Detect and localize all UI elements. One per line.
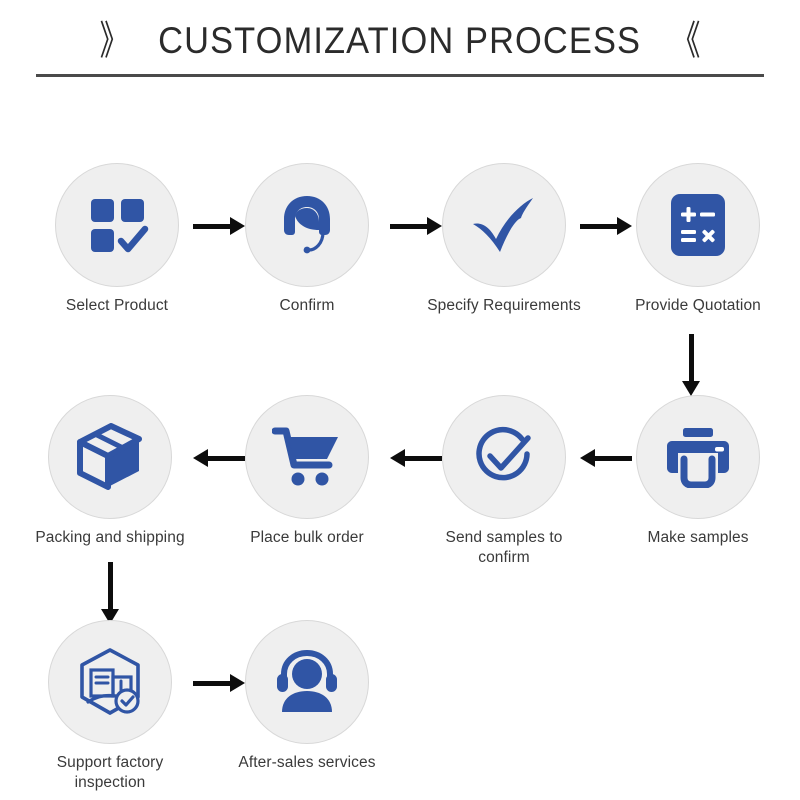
support-agent-icon <box>274 192 340 258</box>
step-icon-circle <box>245 395 369 519</box>
check-circle-icon <box>470 423 538 491</box>
step-label: Provide Quotation <box>613 296 783 316</box>
step-icon-circle <box>55 163 179 287</box>
connector-arrow-down <box>680 334 702 396</box>
connector-arrow-left <box>580 447 632 469</box>
step-icon-circle <box>48 620 172 744</box>
step-label: Confirm <box>222 296 392 316</box>
customization-process-infographic: 》 CUSTOMIZATION PROCESS 《 Select Product <box>0 0 800 800</box>
step-icon-circle <box>636 395 760 519</box>
page-title-text: CUSTOMIZATION PROCESS <box>159 20 642 62</box>
grid-check-icon <box>85 193 149 257</box>
shopping-cart-icon <box>272 425 342 489</box>
step-after-sales-services[interactable]: After-sales services <box>222 620 392 773</box>
step-make-samples[interactable]: Make samples <box>613 395 783 548</box>
step-label: Specify Requirements <box>419 296 589 316</box>
step-icon-circle <box>245 163 369 287</box>
page-title: 》 CUSTOMIZATION PROCESS 《 <box>0 12 800 70</box>
step-label: Send samples to confirm <box>419 528 589 568</box>
step-label: Support factory inspection <box>25 753 195 793</box>
step-icon-circle <box>245 620 369 744</box>
package-box-icon <box>75 423 145 491</box>
connector-arrow-right <box>390 215 442 237</box>
step-label: After-sales services <box>222 753 392 773</box>
step-place-bulk-order[interactable]: Place bulk order <box>222 395 392 548</box>
step-confirm[interactable]: Confirm <box>222 163 392 316</box>
step-icon-circle <box>48 395 172 519</box>
step-icon-circle <box>442 163 566 287</box>
step-provide-quotation[interactable]: Provide Quotation <box>613 163 783 316</box>
step-send-samples-to-confirm[interactable]: Send samples to confirm <box>419 395 589 568</box>
chevron-right-ornament-icon: 《 <box>671 21 700 61</box>
connector-arrow-down <box>99 562 121 624</box>
step-label: Make samples <box>613 528 783 548</box>
step-label: Place bulk order <box>222 528 392 548</box>
step-support-factory-inspection[interactable]: Support factory inspection <box>25 620 195 793</box>
step-packing-and-shipping[interactable]: Packing and shipping <box>25 395 195 548</box>
connector-arrow-right <box>193 672 245 694</box>
printer-icon <box>664 426 732 488</box>
chevron-left-ornament-icon: 》 <box>100 21 129 61</box>
checkmark-icon <box>469 192 539 258</box>
headset-person-icon <box>272 650 342 714</box>
step-specify-requirements[interactable]: Specify Requirements <box>419 163 589 316</box>
header: 》 CUSTOMIZATION PROCESS 《 <box>0 0 800 88</box>
connector-arrow-left <box>390 447 442 469</box>
factory-inspection-icon <box>75 647 145 717</box>
step-icon-circle <box>442 395 566 519</box>
header-divider <box>36 74 764 77</box>
connector-arrow-right <box>580 215 632 237</box>
step-label: Packing and shipping <box>25 528 195 548</box>
step-select-product[interactable]: Select Product <box>32 163 202 316</box>
connector-arrow-left <box>193 447 245 469</box>
step-label: Select Product <box>32 296 202 316</box>
calculator-icon <box>668 191 728 259</box>
connector-arrow-right <box>193 215 245 237</box>
step-icon-circle <box>636 163 760 287</box>
